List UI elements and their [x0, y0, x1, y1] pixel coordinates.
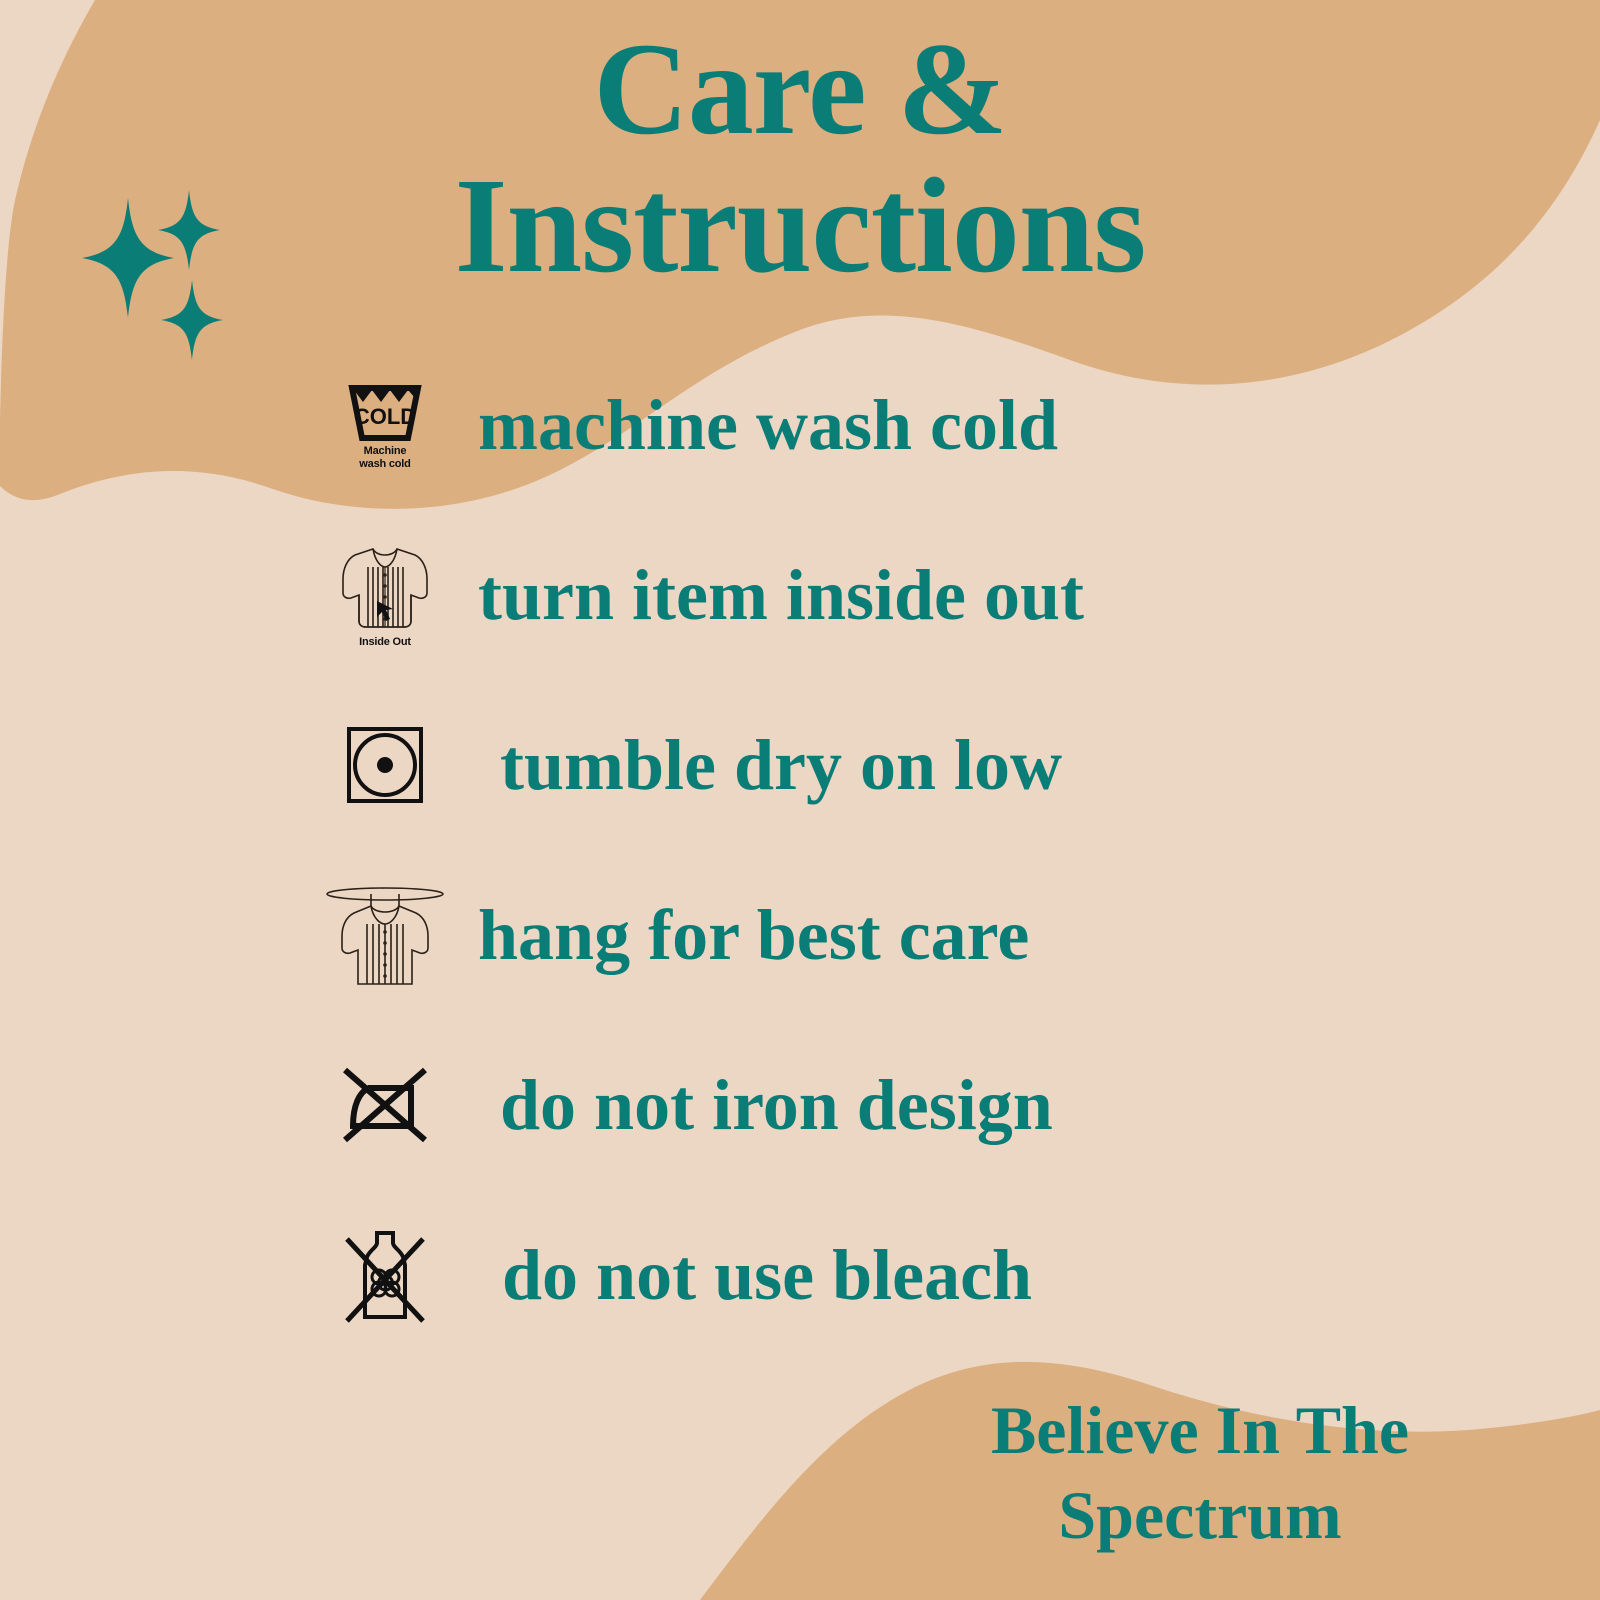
instruction-list: COLD Machine wash cold machine wash cold	[0, 340, 1600, 1360]
wash-tub-temp-label: COLD	[354, 404, 416, 429]
instruction-row: do not use bleach	[0, 1190, 1600, 1360]
instruction-row: tumble dry on low	[0, 680, 1600, 850]
instruction-row: Inside Out turn item inside out	[0, 510, 1600, 680]
icon-caption: Machine wash cold	[359, 445, 410, 470]
instruction-row: do not iron design	[0, 1020, 1600, 1190]
care-instructions-poster: Care & Instructions COLD Machine wash co…	[0, 0, 1600, 1600]
tumble-dry-low-glyph	[343, 723, 427, 807]
instruction-row: hang for best care	[0, 850, 1600, 1020]
brand-footer: Believe In The Spectrum	[890, 1388, 1510, 1558]
instruction-label: tumble dry on low	[500, 729, 1062, 801]
instruction-label: turn item inside out	[478, 559, 1084, 631]
shirt-inside-out-icon: Inside Out	[330, 530, 440, 660]
do-not-bleach-glyph	[339, 1225, 431, 1325]
page-title: Care & Instructions	[0, 22, 1600, 295]
tumble-dry-low-icon	[330, 700, 440, 830]
shirt-inside-out-glyph	[337, 541, 433, 633]
wash-tub-cold-glyph: COLD	[346, 380, 424, 442]
instruction-label: hang for best care	[478, 899, 1029, 971]
instruction-label: machine wash cold	[478, 389, 1058, 461]
do-not-iron-icon	[330, 1040, 440, 1170]
do-not-bleach-icon	[330, 1210, 440, 1340]
title-line-2: Instructions	[0, 157, 1600, 296]
icon-caption: Inside Out	[359, 636, 411, 649]
hang-dry-shirt-icon	[330, 870, 440, 1000]
icon-caption-line-2: wash cold	[359, 458, 410, 470]
hang-dry-shirt-glyph	[324, 880, 446, 990]
footer-line-2: Spectrum	[890, 1473, 1510, 1558]
title-line-1: Care &	[0, 22, 1600, 157]
instruction-row: COLD Machine wash cold machine wash cold	[0, 340, 1600, 510]
instruction-label: do not iron design	[500, 1069, 1053, 1141]
instruction-label: do not use bleach	[502, 1239, 1032, 1311]
wash-tub-cold-icon: COLD Machine wash cold	[330, 360, 440, 490]
footer-line-1: Believe In The	[890, 1388, 1510, 1473]
icon-caption-line-1: Machine	[364, 445, 407, 457]
icon-caption-line-1: Inside Out	[359, 636, 411, 648]
do-not-iron-glyph	[339, 1064, 431, 1146]
